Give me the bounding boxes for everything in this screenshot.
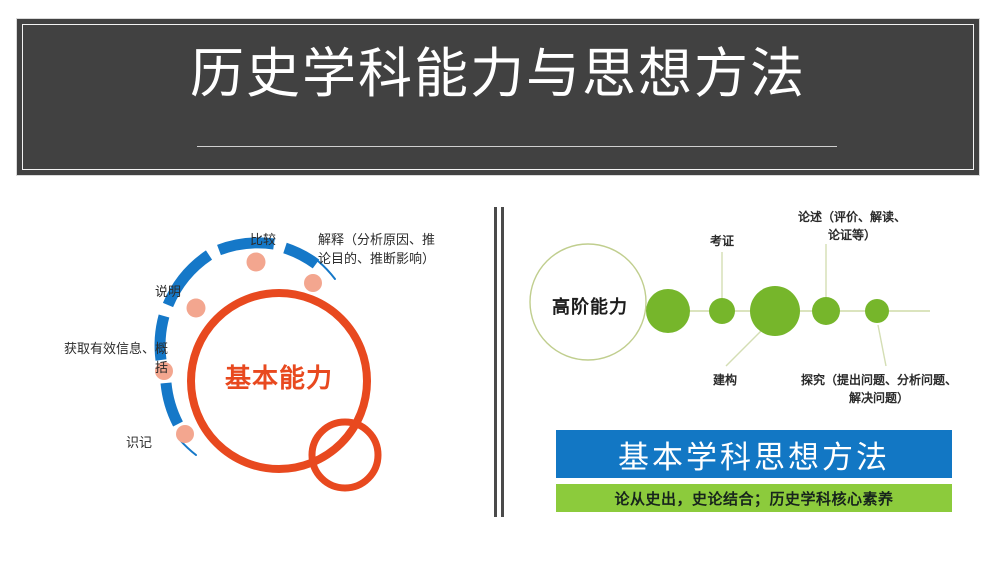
arc-dot-shuoming	[187, 299, 206, 318]
bubble-4	[812, 297, 840, 325]
page-title: 历史学科能力与思想方法	[17, 43, 979, 105]
title-banner: 历史学科能力与思想方法	[16, 18, 980, 176]
green-bubbles	[646, 286, 889, 336]
blue-arc-segments	[160, 243, 316, 424]
label-jiangou: 建构	[688, 371, 762, 389]
section-divider-line-1	[494, 207, 497, 517]
core-label-high-ability: 高阶能力	[530, 293, 650, 319]
label-bijiao: 比较	[250, 231, 276, 250]
banner-secondary-method: 论从史出，史论结合；历史学科核心素养	[556, 484, 952, 512]
bubble-3	[750, 286, 800, 336]
leader-tanjiu	[878, 325, 886, 366]
slide-root: 历史学科能力与思想方法	[0, 0, 1000, 562]
core-ring-small	[312, 422, 378, 488]
core-label-basic-ability: 基本能力	[204, 358, 354, 395]
blue-arc-segment-5	[285, 248, 316, 264]
leader-lines	[722, 244, 886, 366]
label-shiji: 识记	[126, 434, 152, 453]
arc-dot-shiji	[176, 425, 194, 443]
label-tanjiu: 探究（提出问题、分析问题、 解决问题）	[768, 371, 990, 407]
section-divider-line-2	[501, 207, 504, 517]
label-shuoming: 说明	[155, 283, 181, 302]
arc-dot-bijiao	[247, 253, 266, 272]
bubble-5	[865, 299, 889, 323]
bubble-1	[646, 289, 690, 333]
label-kaozheng: 考证	[684, 232, 760, 250]
label-lunshu: 论述（评价、解读、 论证等）	[762, 208, 942, 244]
label-huoqu-youxiao-xinxi: 获取有效信息、概 括	[28, 340, 168, 378]
banner-primary-method: 基本学科思想方法	[556, 430, 952, 478]
bubble-2	[709, 298, 735, 324]
arc-node-dots	[155, 253, 322, 444]
leader-jiangou	[726, 330, 762, 366]
label-jieshi: 解释（分析原因、推 论目的、推断影响）	[318, 231, 470, 269]
title-underline-rule	[197, 146, 837, 147]
blue-arc-segment-1	[166, 383, 178, 424]
blue-arc-tail-bottom	[180, 440, 196, 455]
arc-dot-jieshi	[304, 274, 322, 292]
